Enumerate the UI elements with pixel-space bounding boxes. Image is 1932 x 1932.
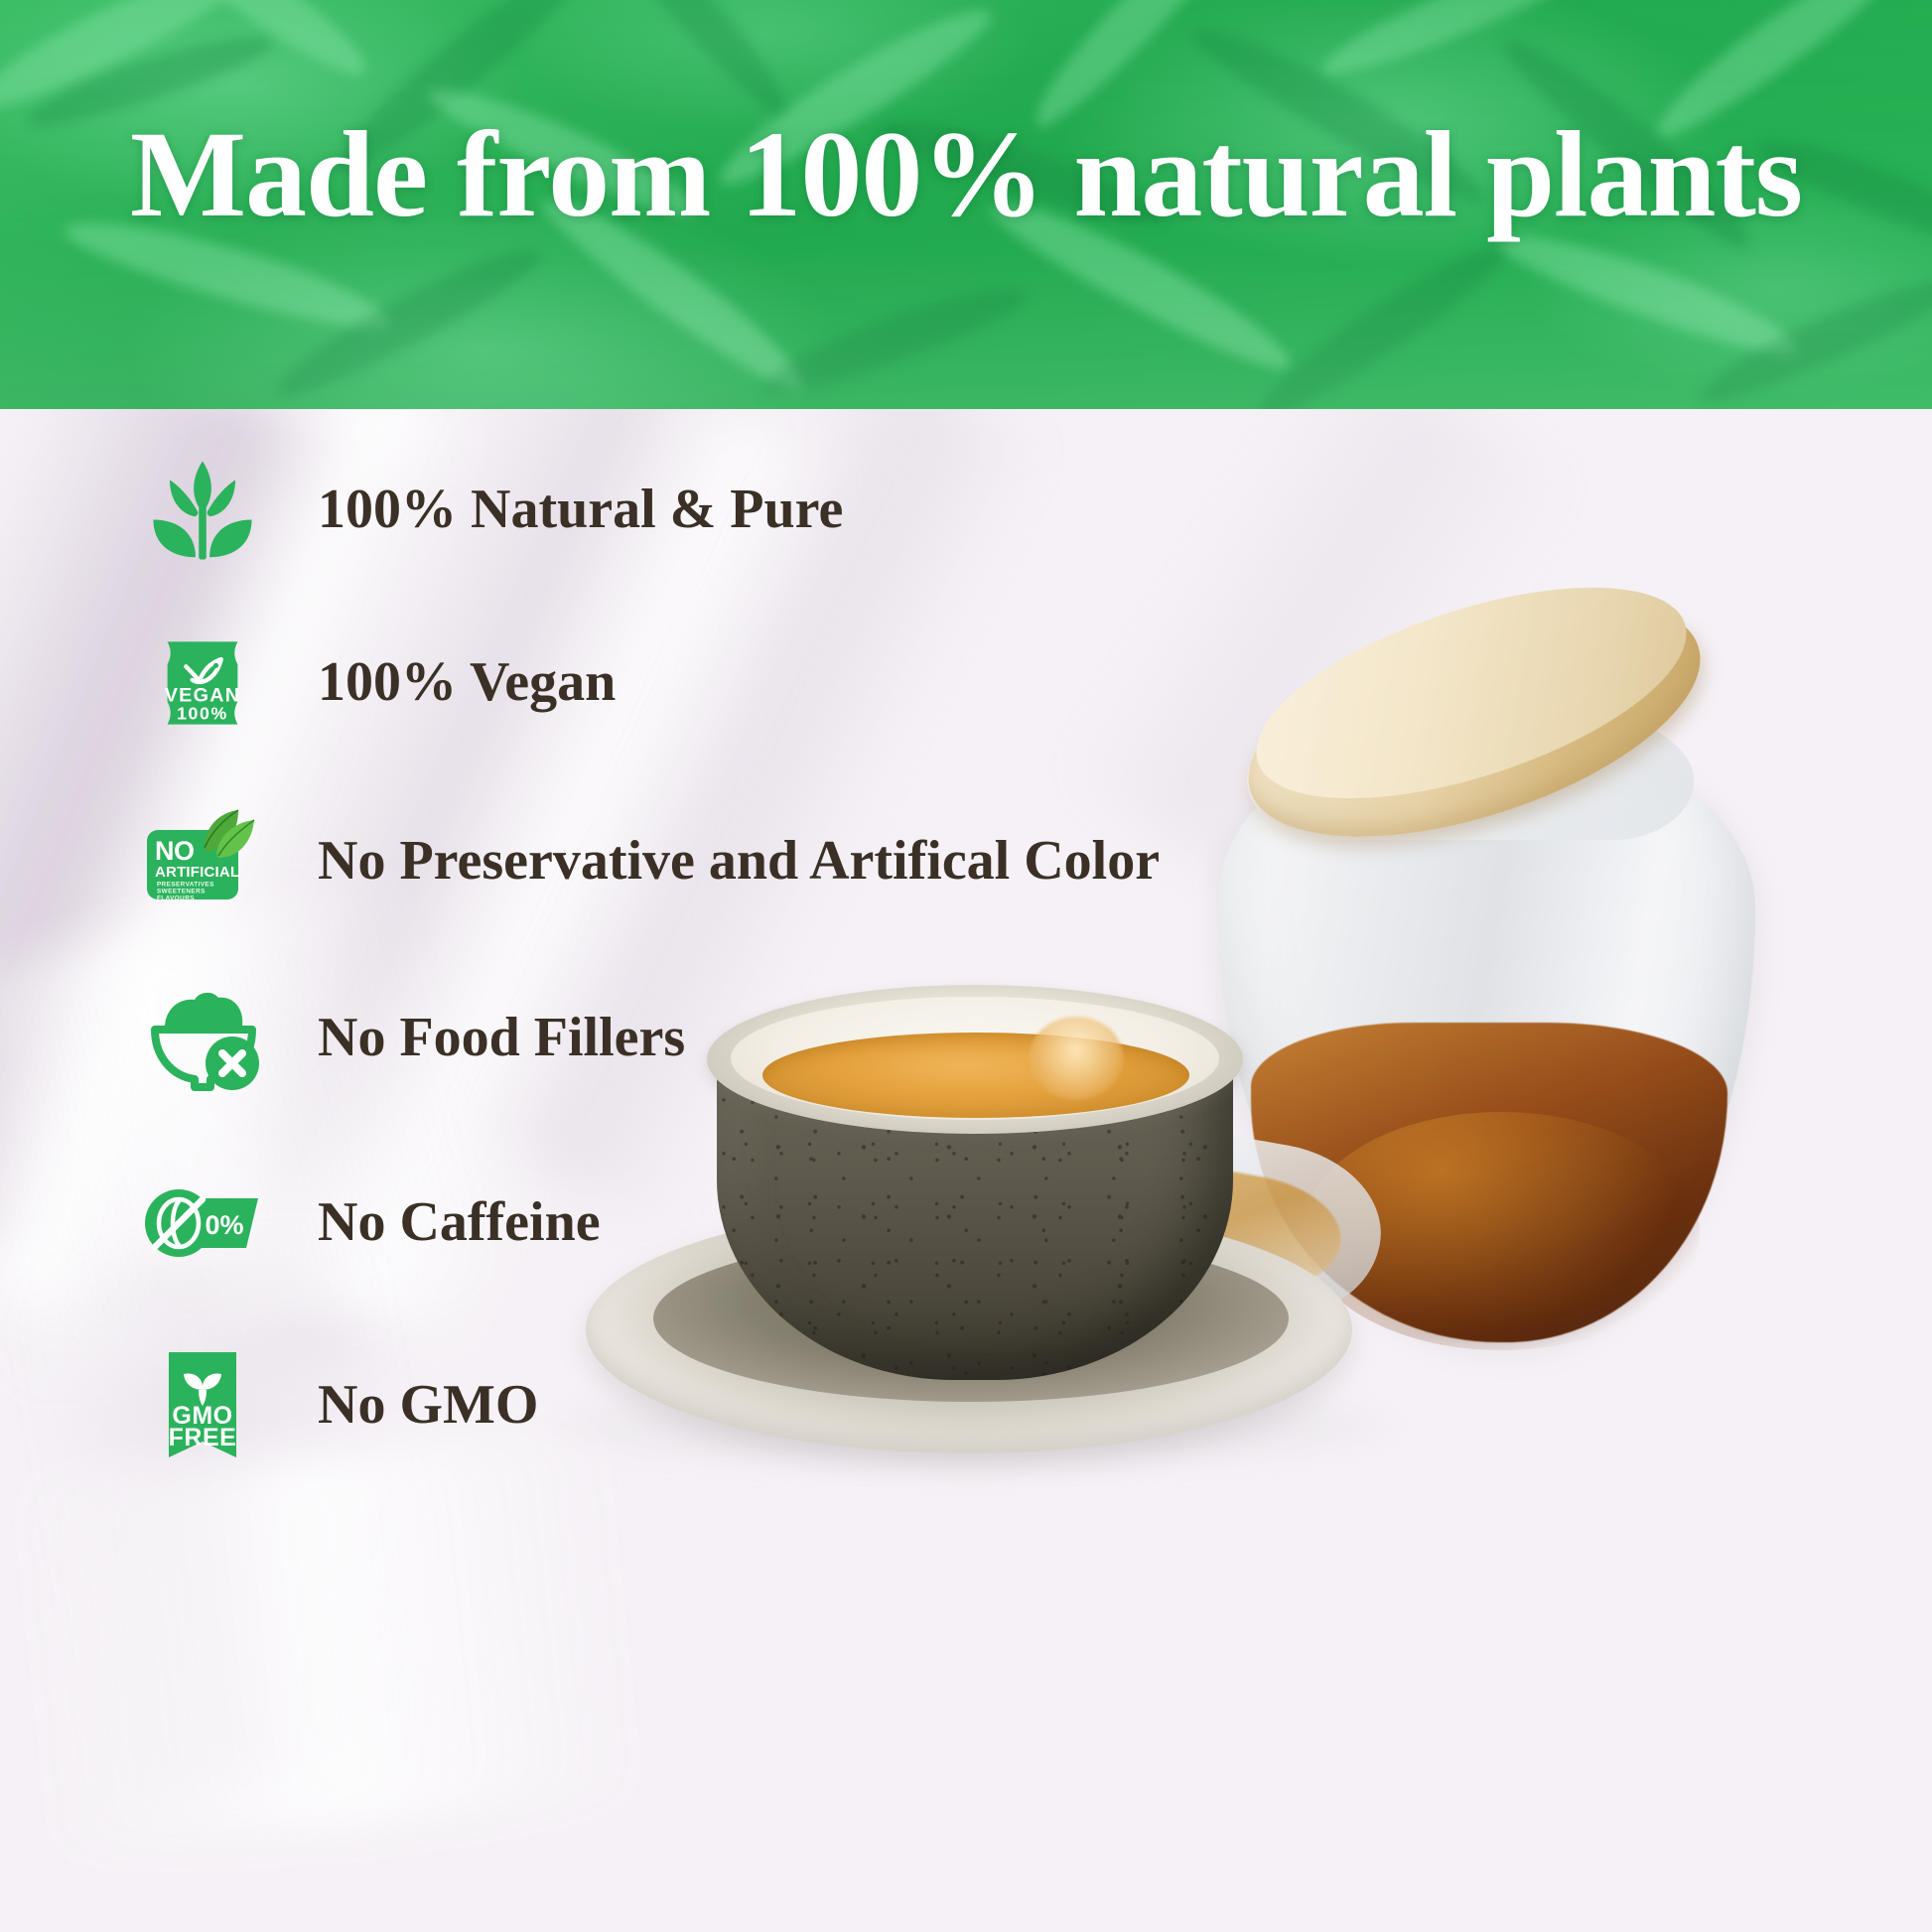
badge-bullet-1: PRESERVATIVES <box>157 882 214 889</box>
no-artificial-badge-icon: NO ARTIFICIAL PRESERVATIVES SWEETENERS F… <box>139 798 266 925</box>
no-food-fillers-icon <box>139 975 266 1102</box>
feature-label: No Food Fillers <box>318 1008 685 1069</box>
page-title: Made from 100% natural plants <box>0 111 1932 239</box>
feature-item-no-caffeine: 0% No Caffeine <box>139 1160 601 1287</box>
feature-label: No Preservative and Artifical Color <box>318 831 1160 893</box>
feature-item-no-gmo: GMO FREE No GMO <box>139 1342 538 1469</box>
product-infographic: Made from 100% natural plants <box>0 0 1932 1932</box>
gmo-free-badge-icon: GMO FREE <box>139 1342 266 1469</box>
leaf-pair-decoration <box>205 810 254 858</box>
feature-item-natural-pure: 100% Natural & Pure <box>139 447 843 574</box>
header-banner: Made from 100% natural plants <box>0 0 1932 409</box>
feature-item-no-artificial: NO ARTIFICIAL PRESERVATIVES SWEETENERS F… <box>139 798 1160 925</box>
vegan-badge-icon: VEGAN 100% <box>139 620 266 747</box>
badge-bullet-3: FLAVOURS <box>157 896 195 902</box>
no-caffeine-icon: 0% <box>139 1160 266 1287</box>
svg-text:NO: NO <box>155 836 195 866</box>
feature-label: 100% Natural & Pure <box>318 480 843 541</box>
svg-text:0%: 0% <box>205 1210 243 1240</box>
feature-item-vegan: VEGAN 100% 100% Vegan <box>139 620 616 747</box>
feature-label: No GMO <box>318 1375 538 1437</box>
feature-item-no-food-fillers: No Food Fillers <box>139 975 685 1102</box>
feature-label: 100% Vegan <box>318 652 616 714</box>
feature-label: No Caffeine <box>318 1192 601 1254</box>
svg-text:FREE: FREE <box>169 1424 237 1451</box>
feature-list: 100% Natural & Pure VEGAN 100% 100% Vega… <box>0 409 1092 1932</box>
svg-text:100%: 100% <box>177 703 228 723</box>
plant-sprout-icon <box>139 447 266 574</box>
badge-bullet-2: SWEETENERS <box>157 889 206 896</box>
svg-text:ARTIFICIAL: ARTIFICIAL <box>155 864 239 881</box>
